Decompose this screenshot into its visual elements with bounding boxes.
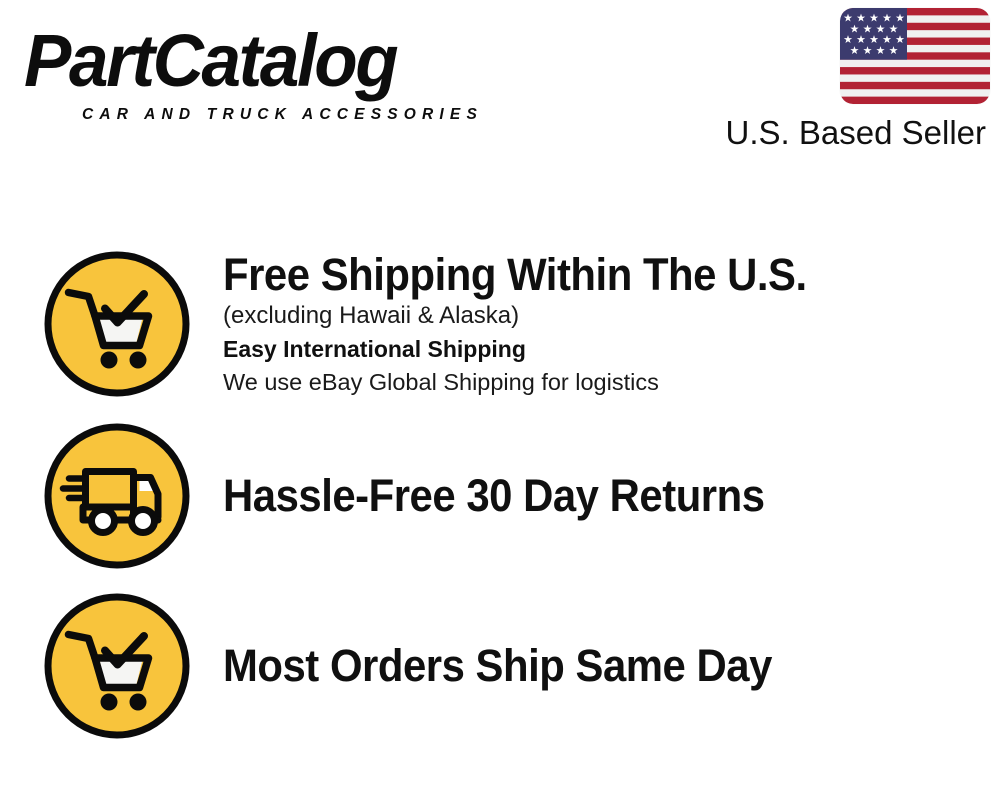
feature-row: Hassle-Free 30 Day Returns xyxy=(0,422,1000,570)
feature-row: Free Shipping Within The U.S. (excluding… xyxy=(0,250,1000,398)
feature-text: Most Orders Ship Same Day xyxy=(223,641,1000,691)
feature-text: Free Shipping Within The U.S. (excluding… xyxy=(223,250,1000,398)
seller-badge: U.S. Based Seller xyxy=(720,8,990,152)
feature-subtitle-secondary: We use eBay Global Shipping for logistic… xyxy=(223,366,1000,398)
feature-title: Most Orders Ship Same Day xyxy=(223,641,946,691)
brand-wordmark: PartCatalog xyxy=(24,22,475,100)
shopping-cart-check-icon xyxy=(43,250,191,398)
us-flag-icon xyxy=(840,8,990,104)
shopping-cart-check-icon xyxy=(43,592,191,740)
delivery-truck-icon xyxy=(43,422,191,570)
feature-title: Free Shipping Within The U.S. xyxy=(223,250,946,300)
feature-subtitle: (excluding Hawaii & Alaska) xyxy=(223,300,1000,332)
header-banner: PartCatalog CAR AND TRUCK ACCESSORIES xyxy=(0,0,1000,170)
brand-tagline: CAR AND TRUCK ACCESSORIES xyxy=(82,106,483,124)
feature-row: Most Orders Ship Same Day xyxy=(0,592,1000,740)
feature-text: Hassle-Free 30 Day Returns xyxy=(223,471,1000,521)
feature-title: Hassle-Free 30 Day Returns xyxy=(223,471,946,521)
brand-logo: PartCatalog CAR AND TRUCK ACCESSORIES xyxy=(24,22,494,122)
feature-subtitle-strong: Easy International Shipping xyxy=(223,332,1000,366)
feature-list: Free Shipping Within The U.S. (excluding… xyxy=(0,230,1000,770)
seller-label: U.S. Based Seller xyxy=(720,114,990,152)
